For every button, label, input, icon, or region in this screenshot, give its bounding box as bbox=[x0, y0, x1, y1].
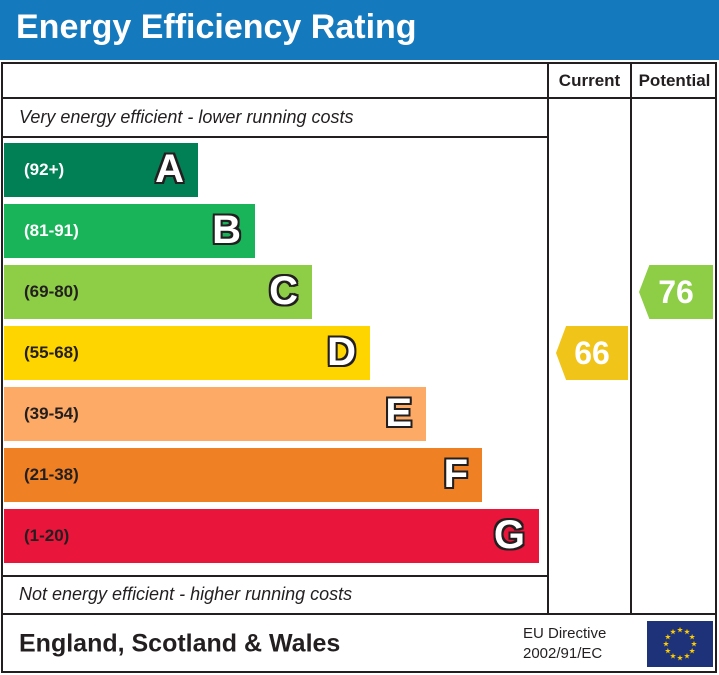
rating-table: Current Potential Very energy efficient … bbox=[1, 62, 717, 673]
caption-inefficient: Not energy efficient - higher running co… bbox=[3, 576, 547, 613]
band-range-label: (81-91) bbox=[24, 221, 79, 241]
footer-directive-line2: 2002/91/EC bbox=[523, 644, 606, 664]
footer-directive-line1: EU Directive bbox=[523, 624, 606, 644]
column-header-current: Current bbox=[547, 64, 630, 97]
column-header-potential: Potential bbox=[630, 64, 717, 97]
band-range-label: (1-20) bbox=[24, 526, 69, 546]
footer-region-label: England, Scotland & Wales bbox=[19, 630, 340, 659]
rating-arrow-potential: 76 bbox=[639, 265, 713, 319]
page-title: Energy Efficiency Rating bbox=[16, 8, 417, 47]
band-b: (81-91)B bbox=[4, 204, 255, 258]
band-letter-label: B bbox=[212, 210, 241, 250]
band-letter-label: E bbox=[385, 393, 412, 433]
band-range-label: (21-38) bbox=[24, 465, 79, 485]
footer: England, Scotland & Wales EU Directive 2… bbox=[3, 615, 715, 673]
band-e: (39-54)E bbox=[4, 387, 426, 441]
band-range-label: (55-68) bbox=[24, 343, 79, 363]
eu-flag-icon bbox=[647, 621, 713, 667]
footer-directive-label: EU Directive 2002/91/EC bbox=[523, 624, 606, 665]
caption-top-divider bbox=[3, 136, 547, 138]
band-range-label: (39-54) bbox=[24, 404, 79, 424]
energy-efficiency-certificate: Energy Efficiency Rating Current Potenti… bbox=[0, 0, 719, 675]
rating-value-current: 66 bbox=[574, 335, 610, 372]
rating-value-potential: 76 bbox=[658, 274, 694, 311]
table-header-row: Current Potential bbox=[3, 64, 715, 99]
rating-arrow-current: 66 bbox=[556, 326, 628, 380]
band-letter-label: F bbox=[444, 454, 468, 494]
band-letter-label: C bbox=[269, 271, 298, 311]
band-d: (55-68)D bbox=[4, 326, 370, 380]
band-letter-label: G bbox=[494, 515, 525, 555]
band-letter-label: A bbox=[155, 149, 184, 189]
band-letter-label: D bbox=[327, 332, 356, 372]
band-c: (69-80)C bbox=[4, 265, 312, 319]
band-range-label: (69-80) bbox=[24, 282, 79, 302]
title-bar: Energy Efficiency Rating bbox=[0, 0, 719, 60]
caption-efficient: Very energy efficient - lower running co… bbox=[3, 99, 547, 136]
band-f: (21-38)F bbox=[4, 448, 482, 502]
band-range-label: (92+) bbox=[24, 160, 64, 180]
band-g: (1-20)G bbox=[4, 509, 539, 563]
column-divider-current bbox=[547, 99, 549, 613]
column-divider-potential bbox=[630, 99, 632, 613]
band-a: (92+)A bbox=[4, 143, 198, 197]
